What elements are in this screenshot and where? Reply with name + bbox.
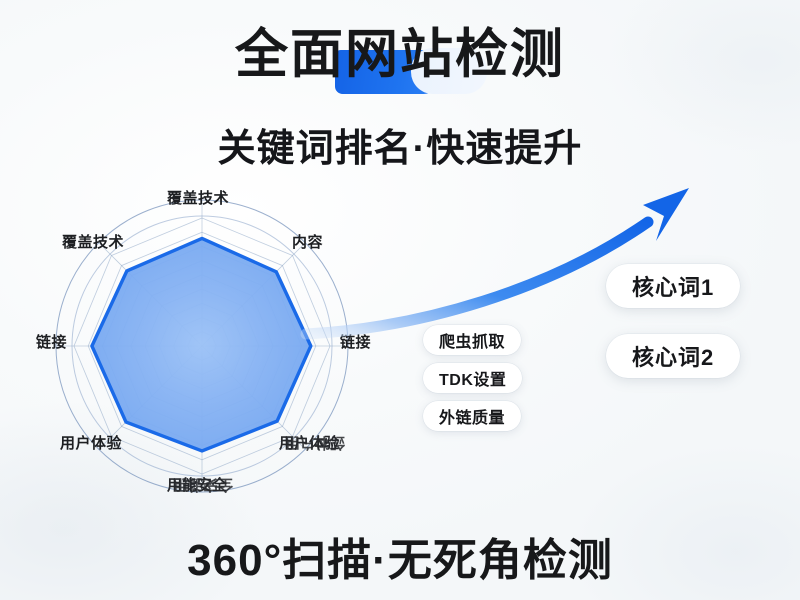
- radar-axis-label-top: 覆盖技术: [167, 187, 229, 208]
- feature-chip-tdk[interactable]: TDK设置: [423, 363, 522, 393]
- keyword-chip-1-label: 核心词1: [632, 270, 714, 302]
- feature-chip-tdk-label: TDK设置: [439, 366, 506, 390]
- feature-chip-backlink[interactable]: 外链质量: [423, 401, 521, 431]
- feature-chip-backlink-label: 外链质量: [439, 404, 505, 428]
- keyword-chip-2[interactable]: 核心词2: [606, 334, 740, 378]
- radar-axis-label-left: 链接: [36, 331, 67, 352]
- poster-canvas: 全面网站检测 关键词排名·快速提升 覆盖技术 内容 链接: [0, 0, 800, 600]
- headline-area: 全面网站检测: [0, 26, 800, 83]
- radar-axis-label-top-left: 覆盖技术: [62, 231, 124, 252]
- keyword-chip-2-label: 核心词2: [632, 340, 714, 372]
- page-footline: 360°扫描·无死角检测: [0, 524, 800, 588]
- radar-axis-label-bottom-left: 用户体验: [60, 432, 122, 453]
- page-title-text: 全面网站检测: [235, 25, 565, 84]
- page-subtitle: 关键词排名·快速提升: [0, 117, 800, 172]
- keyword-chip-1[interactable]: 核心词1: [606, 264, 740, 308]
- page-title: 全面网站检测: [235, 26, 565, 83]
- feature-chip-crawl-label: 爬虫抓取: [439, 328, 505, 352]
- feature-chip-crawl[interactable]: 爬虫抓取: [423, 325, 521, 355]
